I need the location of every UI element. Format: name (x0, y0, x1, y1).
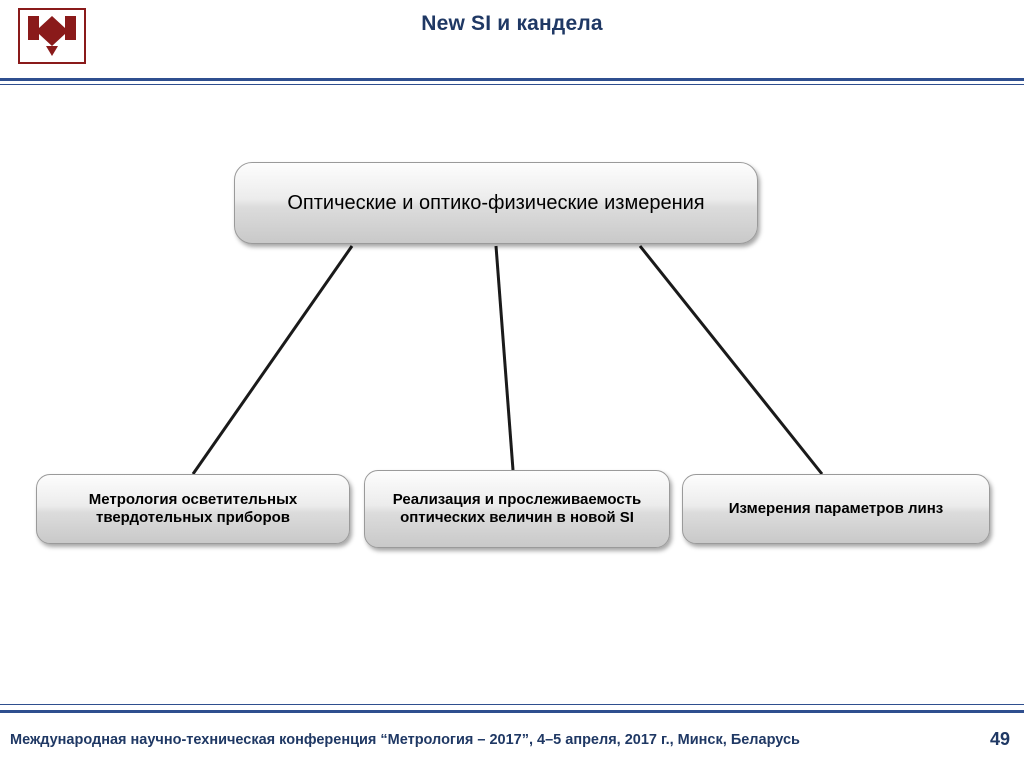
slide-header: New SI и кандела (0, 0, 1024, 86)
connector-root-to-left (193, 246, 352, 474)
diagram-node-realization-traceability-label: Реализация и прослеживаемость оптических… (375, 491, 659, 528)
page-title: New SI и кандела (0, 12, 1024, 36)
slide-number: 49 (990, 729, 1010, 750)
diagram-node-lighting-metrology[interactable]: Метрология осветительных твердотельных п… (36, 474, 350, 544)
diagram-node-lens-parameters[interactable]: Измерения параметров линз (682, 474, 990, 544)
footer-divider-thin (0, 704, 1024, 705)
diagram-canvas: Оптические и оптико-физические измерения… (0, 86, 1024, 686)
footer-conference-text: Международная научно-техническая конфере… (10, 732, 960, 748)
connector-root-to-right (640, 246, 822, 474)
diagram-node-realization-traceability[interactable]: Реализация и прослеживаемость оптических… (364, 470, 670, 548)
header-divider-thin (0, 84, 1024, 85)
diagram-node-lighting-metrology-label: Метрология осветительных твердотельных п… (47, 491, 339, 528)
diagram-node-root-label: Оптические и оптико-физические измерения (287, 191, 704, 215)
diagram-node-root[interactable]: Оптические и оптико-физические измерения (234, 162, 758, 244)
connector-root-to-mid (496, 246, 513, 470)
diagram-node-lens-parameters-label: Измерения параметров линз (729, 500, 943, 518)
header-divider-thick (0, 78, 1024, 81)
footer-divider-thick (0, 710, 1024, 713)
